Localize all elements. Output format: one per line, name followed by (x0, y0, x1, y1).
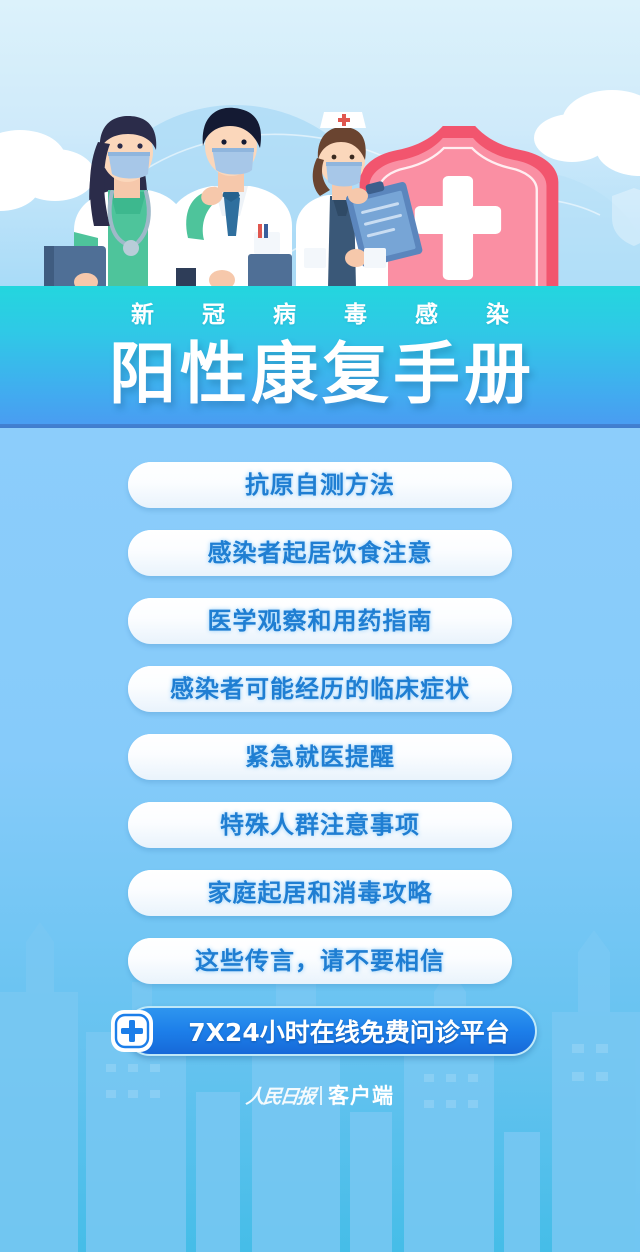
footer-separator (320, 1086, 322, 1105)
list-item-label: 家庭起居和消毒攻略 (208, 878, 433, 908)
list-item-label: 特殊人群注意事项 (220, 810, 420, 840)
list-item[interactable]: 特殊人群注意事项 (128, 802, 512, 848)
list-item[interactable]: 感染者起居饮食注意 (128, 530, 512, 576)
page-title: 阳性康复手册 (0, 332, 640, 416)
list-item[interactable]: 紧急就医提醒 (128, 734, 512, 780)
list-item[interactable]: 医学观察和用药指南 (128, 598, 512, 644)
cta-label: 7X24小时在线免费问诊平台 (173, 1006, 525, 1056)
header-illustration (0, 0, 640, 288)
title-banner: 新 冠 病 毒 感 染 阳性康复手册 (0, 286, 640, 428)
list-item[interactable]: 家庭起居和消毒攻略 (128, 870, 512, 916)
list-item[interactable]: 感染者可能经历的临床症状 (128, 666, 512, 712)
medical-cross-icon (109, 1008, 155, 1054)
list-item-label: 感染者可能经历的临床症状 (170, 674, 470, 704)
list-item[interactable]: 这些传言，请不要相信 (128, 938, 512, 984)
list-item-label: 感染者起居饮食注意 (208, 538, 433, 568)
list-item[interactable]: 抗原自测方法 (128, 462, 512, 508)
list-item-label: 紧急就医提醒 (245, 742, 395, 772)
app-name: 客户端 (328, 1080, 394, 1110)
list-item-label: 医学观察和用药指南 (208, 606, 433, 636)
list-item-label: 这些传言，请不要相信 (195, 946, 445, 976)
poster-root: 新 冠 病 毒 感 染 阳性康复手册 (0, 0, 640, 1252)
online-consultation-cta[interactable]: 7X24小时在线免费问诊平台 (103, 1006, 537, 1056)
list-item-label: 抗原自测方法 (245, 470, 395, 500)
topic-list: 抗原自测方法 感染者起居饮食注意 医学观察和用药指南 感染者可能经历的临床症状 … (0, 462, 640, 1056)
footer-branding: 人民日报 客户端 (0, 1078, 640, 1112)
publisher-logo: 人民日报 (245, 1082, 316, 1109)
banner-subtitle: 新 冠 病 毒 感 染 (0, 300, 640, 330)
